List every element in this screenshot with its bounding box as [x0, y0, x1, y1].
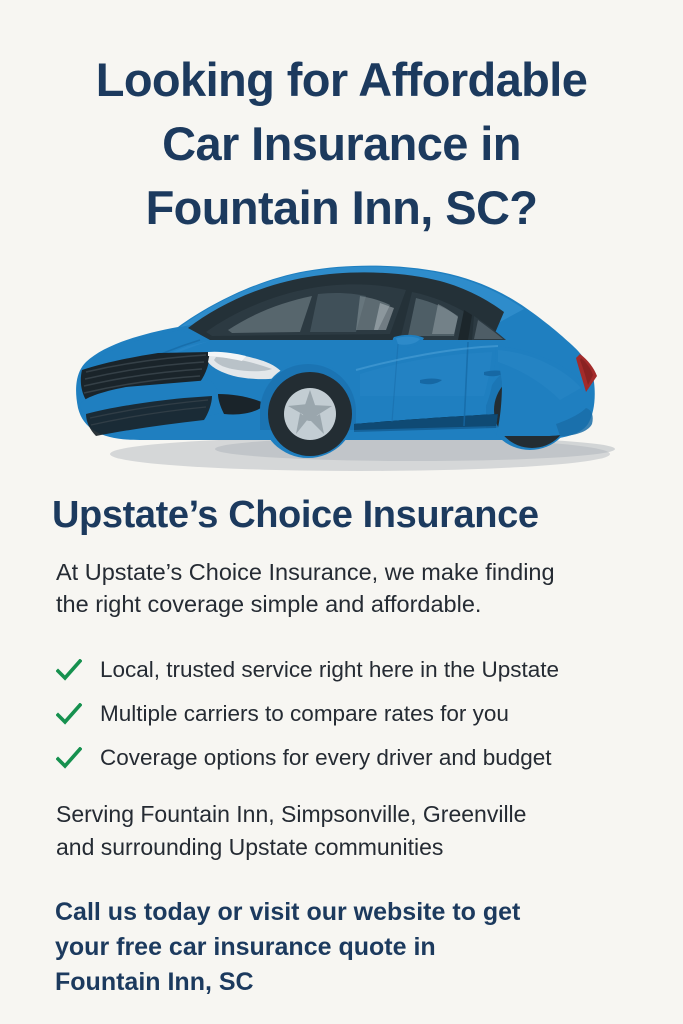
check-icon	[56, 659, 82, 681]
cta-line-2: your free car insurance quote in	[55, 930, 675, 965]
headline-line-2: Car Insurance in	[0, 112, 683, 176]
insurance-ad-poster: Looking for Affordable Car Insurance in …	[0, 0, 683, 1024]
list-item: Coverage options for every driver and bu…	[56, 736, 666, 780]
headline-line-3: Fountain Inn, SC?	[0, 176, 683, 240]
cta-line-1: Call us today or visit our website to ge…	[55, 895, 675, 930]
blue-sedan-car-illustration	[60, 248, 623, 480]
intro-line-1: At Upstate’s Choice Insurance, we make f…	[56, 556, 656, 588]
check-icon	[56, 747, 82, 769]
check-icon	[56, 703, 82, 725]
list-item-label: Coverage options for every driver and bu…	[100, 745, 552, 770]
page-title: Looking for Affordable Car Insurance in …	[0, 48, 683, 240]
serving-line-1: Serving Fountain Inn, Simpsonville, Gree…	[56, 798, 676, 831]
benefits-list: Local, trusted service right here in the…	[56, 648, 666, 780]
headline-line-1: Looking for Affordable	[0, 48, 683, 112]
list-item: Multiple carriers to compare rates for y…	[56, 692, 666, 736]
intro-paragraph: At Upstate’s Choice Insurance, we make f…	[56, 556, 656, 620]
intro-line-2: the right coverage simple and affordable…	[56, 588, 656, 620]
serving-line-2: and surrounding Upstate communities	[56, 831, 676, 864]
list-item-label: Multiple carriers to compare rates for y…	[100, 701, 509, 726]
list-item: Local, trusted service right here in the…	[56, 648, 666, 692]
company-name: Upstate’s Choice Insurance	[52, 492, 652, 538]
cta-line-3: Fountain Inn, SC	[55, 965, 675, 1000]
list-item-label: Local, trusted service right here in the…	[100, 657, 559, 682]
service-area-text: Serving Fountain Inn, Simpsonville, Gree…	[56, 798, 676, 864]
call-to-action-text: Call us today or visit our website to ge…	[55, 895, 675, 1000]
